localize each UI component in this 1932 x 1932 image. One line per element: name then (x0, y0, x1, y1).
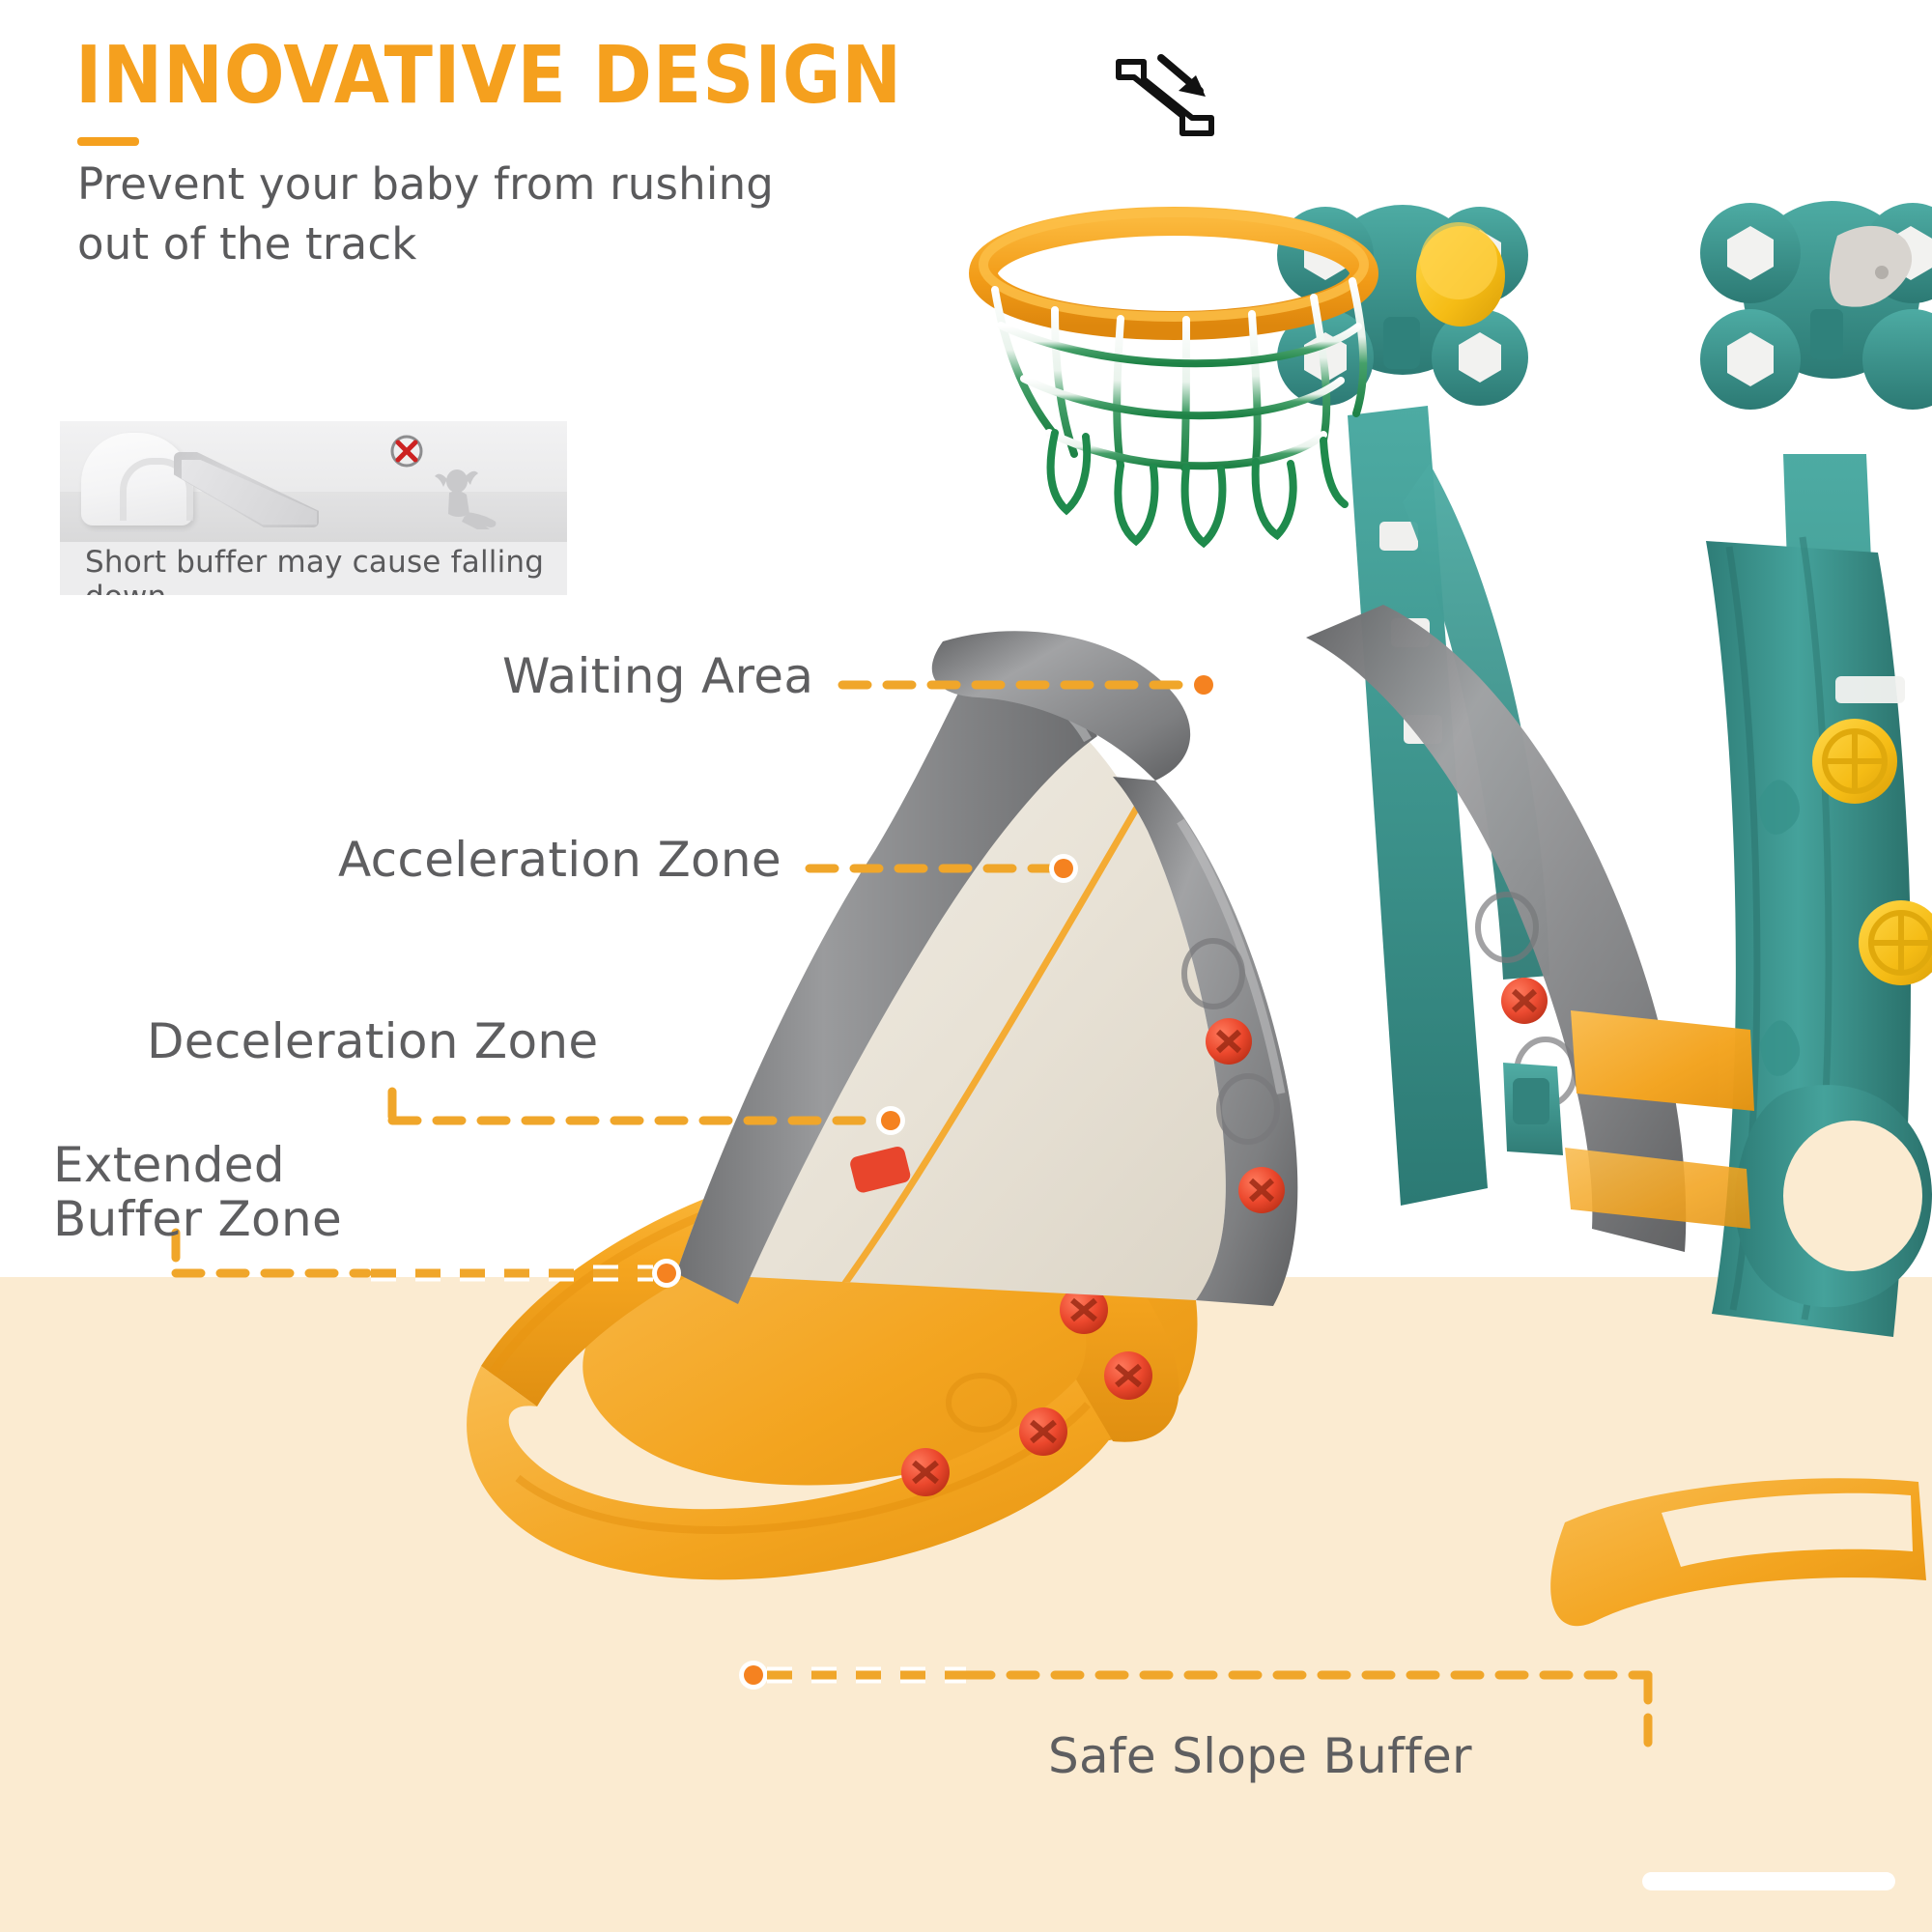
page-title: INNOVATIVE DESIGN (75, 37, 902, 116)
callout-label-waiting-area: Waiting Area (502, 649, 813, 703)
warning-inset-card: Short buffer may cause falling down (60, 421, 567, 595)
bottom-decor-bar (1642, 1872, 1895, 1890)
callout-label-safe-slope-buffer: Safe Slope Buffer (1048, 1729, 1472, 1783)
warning-caption: Short buffer may cause falling down (85, 545, 549, 595)
infographic-canvas: INNOVATIVE DESIGN Prevent your baby from… (0, 0, 1932, 1932)
title-underline (77, 137, 139, 146)
red-x-mark-icon (388, 433, 425, 469)
background-bottom (0, 1277, 1932, 1932)
callout-label-acceleration-zone: Acceleration Zone (338, 833, 781, 887)
fallen-child-figure (432, 466, 509, 529)
page-subtitle: Prevent your baby from rushing out of th… (77, 155, 811, 274)
warning-photo (60, 421, 567, 542)
callout-label-extended-buffer-zone: Extended Buffer Zone (53, 1138, 342, 1246)
slide-down-arrow-icon (1111, 41, 1217, 137)
callout-label-deceleration-zone: Deceleration Zone (147, 1014, 598, 1068)
